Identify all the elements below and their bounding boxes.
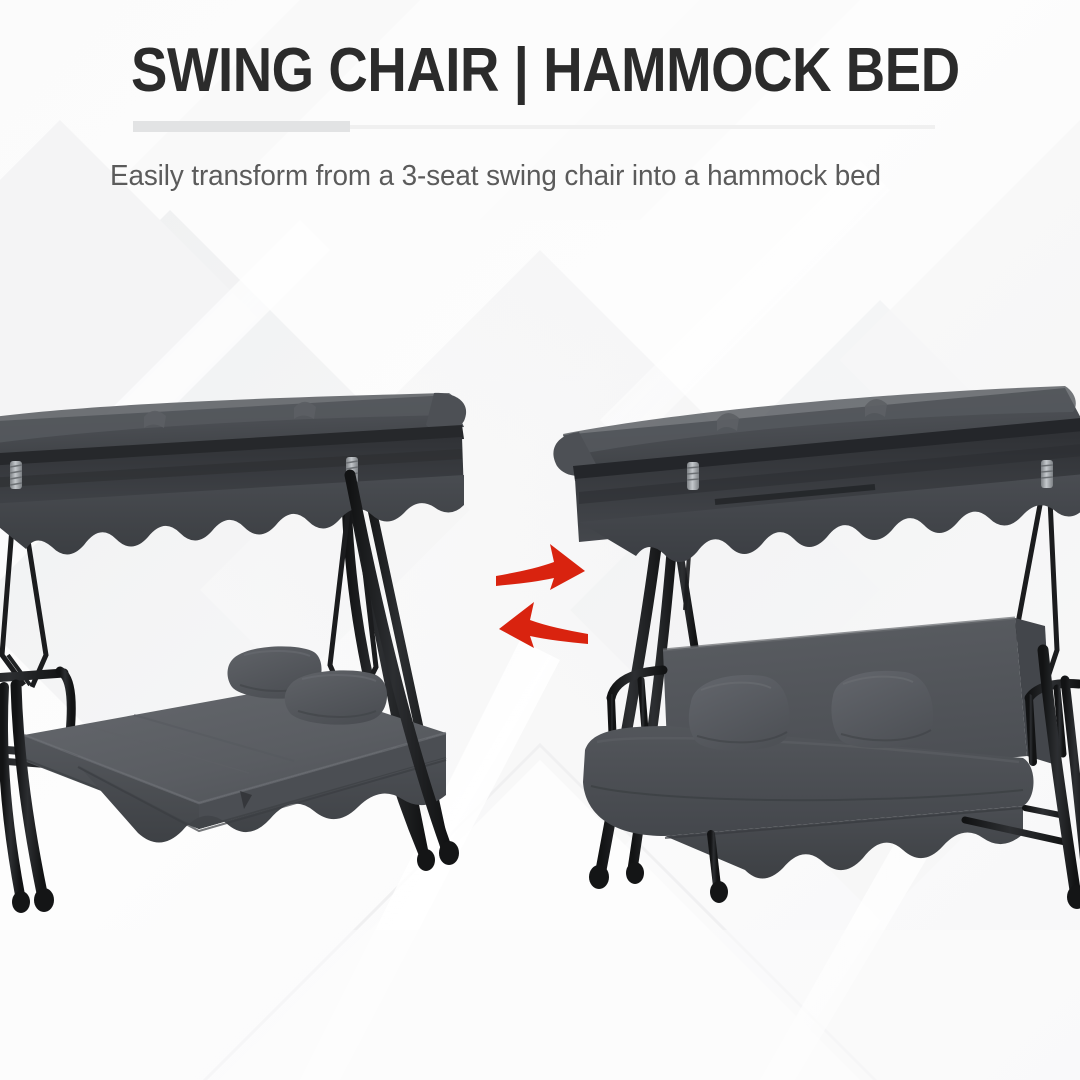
foot-cap-front-left-2	[12, 891, 30, 913]
transform-arrows	[488, 530, 596, 658]
foot-cap-left	[589, 865, 609, 889]
arrow-left-icon	[499, 602, 588, 648]
canopy	[553, 386, 1080, 562]
product-image-swing-chair	[545, 350, 1080, 940]
pillow-2	[831, 671, 933, 748]
spring-connector-left	[10, 461, 22, 489]
divider-thin-segment	[350, 125, 935, 129]
foot-cap-rear-right	[417, 849, 435, 871]
frame-right-a-leg	[1043, 650, 1080, 909]
page-title: SWING CHAIR | HAMMOCK BED	[131, 40, 960, 102]
foot-cap-right	[439, 841, 459, 865]
canopy	[0, 393, 466, 555]
pillow-2	[285, 670, 387, 724]
foot-cap-center	[710, 881, 728, 903]
arrow-right-icon	[496, 544, 585, 590]
frame-front-legs	[3, 685, 54, 913]
spring-connector-right	[1041, 460, 1053, 488]
foot-cap-left-2	[626, 862, 644, 884]
product-marketing-image: SWING CHAIR | HAMMOCK BED Easily transfo…	[0, 0, 1080, 1080]
foot-cap-front-left	[34, 888, 54, 912]
spring-connector-left	[687, 462, 699, 490]
title-divider	[133, 121, 935, 132]
page-subtitle: Easily transform from a 3-seat swing cha…	[110, 160, 881, 193]
product-image-hammock-bed	[0, 355, 494, 935]
foot-cap-right	[1067, 885, 1080, 909]
divider-thick-segment	[133, 121, 350, 132]
pillow-1	[689, 675, 790, 751]
